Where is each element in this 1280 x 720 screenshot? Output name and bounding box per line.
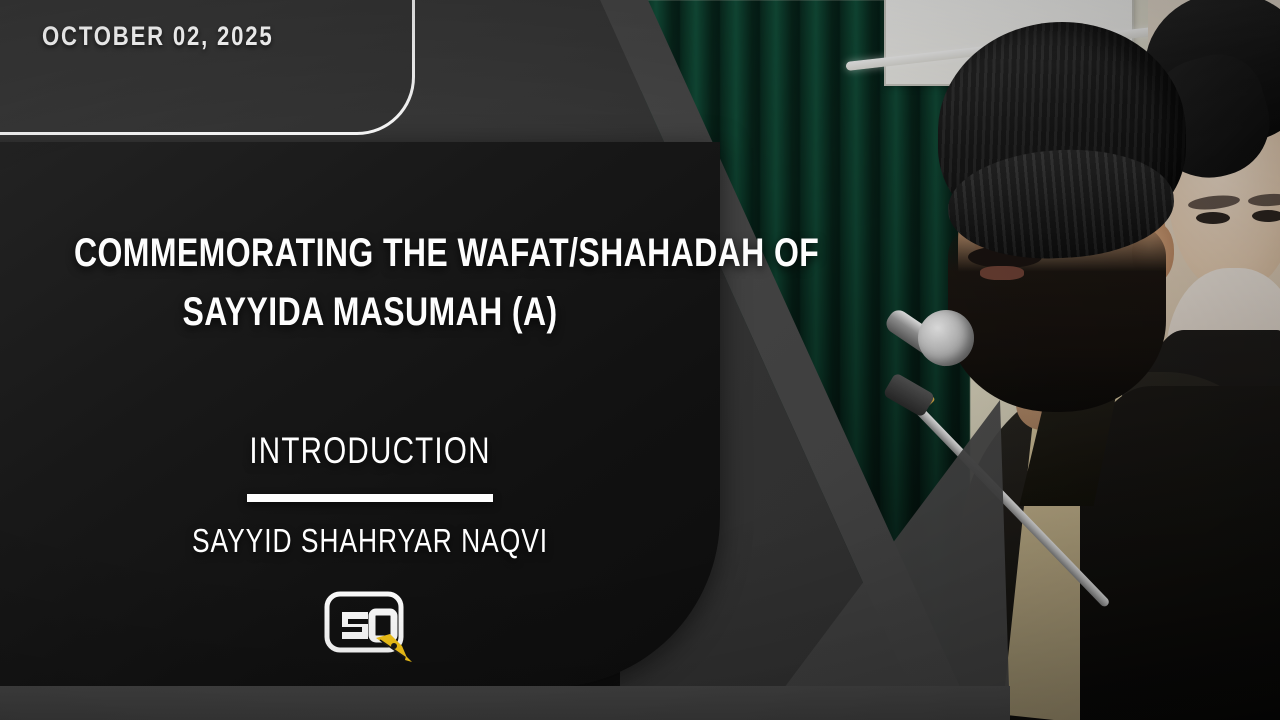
date-label: OCTOBER 02, 2025 [42, 21, 274, 52]
slide-canvas: OCTOBER 02, 2025 COMMEMORATING THE WAFAT… [0, 0, 1280, 720]
presenter-name: SAYYID SHAHRYAR NAQVI [74, 522, 666, 560]
title-line-2: SAYYIDA MASUMAH (A) [74, 283, 666, 342]
speaker-mouth [980, 266, 1024, 280]
section-label: INTRODUCTION [74, 430, 666, 472]
wall-portrait-eye-right [1252, 210, 1280, 222]
logo-svg [322, 588, 418, 666]
title-line-1: COMMEMORATING THE WAFAT/SHAHADAH OF [74, 224, 666, 283]
bottom-bar [0, 686, 1010, 720]
date-badge: OCTOBER 02, 2025 [0, 0, 415, 135]
so-pen-logo-icon [322, 588, 418, 666]
divider [247, 494, 493, 502]
speaker-robe [1080, 386, 1280, 720]
wall-portrait-eye-left [1196, 212, 1230, 224]
microphone-icon [918, 310, 974, 366]
subtitle-group: INTRODUCTION SAYYID SHAHRYAR NAQVI [0, 430, 740, 560]
page-title: COMMEMORATING THE WAFAT/SHAHADAH OF SAYY… [0, 224, 740, 342]
